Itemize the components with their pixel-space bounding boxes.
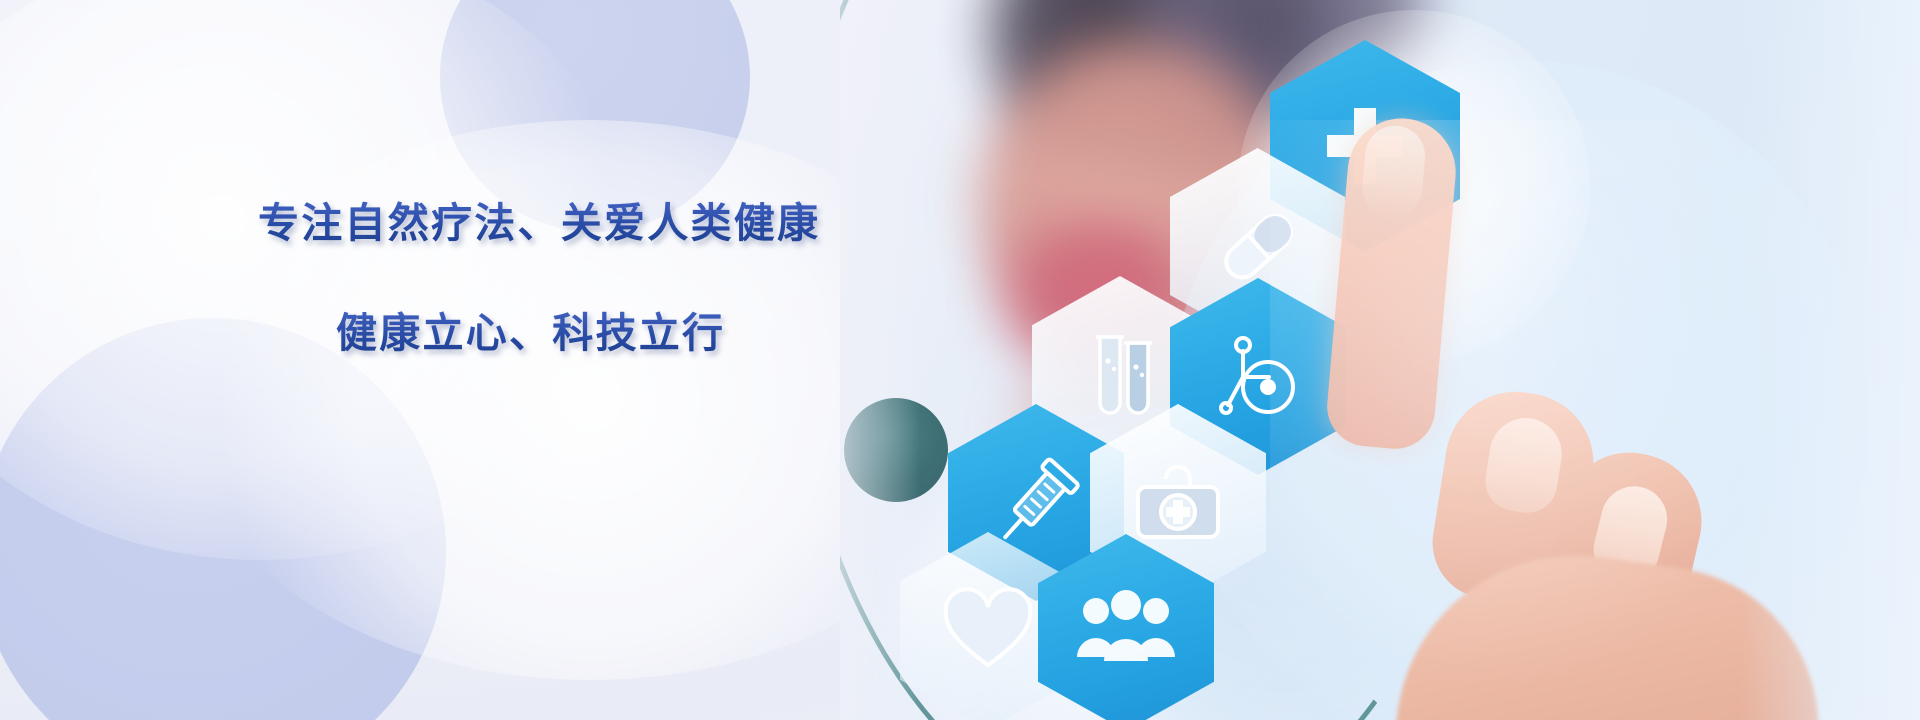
family-group-icon <box>1074 581 1178 685</box>
first-aid-kit-icon <box>1128 453 1228 553</box>
wheelchair-icon <box>1210 329 1306 425</box>
teal-dot <box>844 398 948 502</box>
headline-line-2: 健康立心、科技立行 <box>336 299 725 359</box>
heart-icon <box>938 581 1038 681</box>
syringe-icon <box>986 453 1086 553</box>
medical-cross-icon <box>1317 98 1413 194</box>
doctor-photo-panel <box>840 0 1920 720</box>
health-banner: 专注自然疗法、关爱人类健康 健康立心、科技立行 <box>0 0 1920 720</box>
test-tubes-icon <box>1072 327 1168 423</box>
headline-line-1: 专注自然疗法、关爱人类健康 <box>258 189 820 249</box>
headline-block: 专注自然疗法、关爱人类健康 健康立心、科技立行 <box>0 0 860 720</box>
